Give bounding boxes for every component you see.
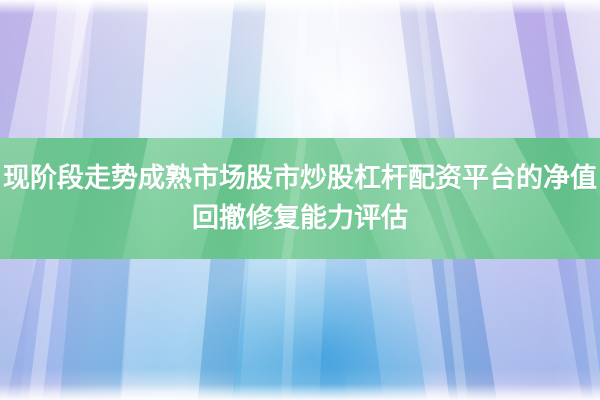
page-title: 现阶段走势成熟市场股市炒股杠杆配资平台的净值 回撤修复能力评估 <box>0 159 600 239</box>
top-fade-overlay <box>0 0 600 14</box>
title-band: 现阶段走势成熟市场股市炒股杠杆配资平台的净值 回撤修复能力评估 <box>0 138 600 259</box>
poster-canvas: 现阶段走势成熟市场股市炒股杠杆配资平台的净值 回撤修复能力评估 <box>0 0 600 400</box>
bottom-fade-overlay <box>0 384 600 400</box>
